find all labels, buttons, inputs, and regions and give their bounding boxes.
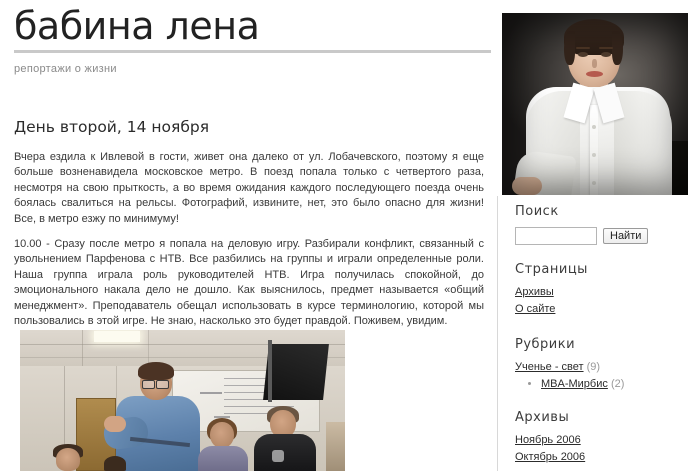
list-item: Ученье - свет (9) MBA-Мирбис (2) [515, 360, 695, 391]
widget-search: Поиск Найти [515, 204, 695, 245]
photo-teacher-glasses [142, 380, 155, 389]
widget-title-archives: Архивы [515, 410, 695, 425]
archives-list: Ноябрь 2006 Октябрь 2006 [515, 433, 695, 464]
sidebar: Поиск Найти Страницы Архивы О сайте Рубр… [502, 0, 700, 471]
archive-link-october-2006[interactable]: Октябрь 2006 [515, 451, 585, 463]
list-item: Октябрь 2006 [515, 450, 695, 464]
photo-student-head [210, 422, 234, 448]
list-item: Ноябрь 2006 [515, 433, 695, 447]
photo-student-head [56, 448, 80, 471]
post-title[interactable]: День второй, 14 ноября [14, 118, 484, 136]
list-item: О сайте [515, 302, 695, 316]
photo-ceiling-light [94, 331, 140, 342]
search-input[interactable] [515, 227, 597, 245]
blog-tagline: репортажи о жизни [14, 63, 492, 75]
photo-ceiling-grid [82, 330, 83, 368]
photo-student-torso [254, 434, 316, 471]
photo-student-shirt-logo [272, 450, 284, 462]
search-submit-button[interactable]: Найти [603, 228, 648, 244]
photo-projector-screen [263, 344, 329, 400]
search-form: Найти [515, 227, 695, 245]
post-content: День второй, 14 ноября Вчера ездила к Ив… [14, 118, 484, 339]
widget-title-search: Поиск [515, 204, 695, 219]
photo-whiteboard-writing [200, 392, 222, 394]
portrait-vignette [502, 13, 688, 195]
photo-teacher-hair [138, 362, 174, 380]
author-portrait-photo[interactable] [502, 13, 688, 195]
blog-title[interactable]: бабина лена [14, 4, 492, 48]
categories-list: Ученье - свет (9) MBA-Мирбис (2) [515, 360, 695, 391]
sidebar-divider [497, 196, 498, 471]
photo-student-edge [326, 422, 345, 471]
widget-pages: Страницы Архивы О сайте [515, 262, 695, 319]
post-body: Вчера ездила к Ивлевой в гости, живет он… [14, 150, 484, 329]
widget-categories: Рубрики Ученье - свет (9) MBA-Мирбис (2) [515, 337, 695, 394]
post-paragraph: Вчера ездила к Ивлевой в гости, живет он… [14, 150, 484, 227]
list-item: Архивы [515, 285, 695, 299]
blog-page: бабина лена репортажи о жизни День второ… [0, 0, 700, 471]
photo-projector-screen-edge [268, 340, 272, 402]
pages-list: Архивы О сайте [515, 285, 695, 316]
widget-archives: Архивы Ноябрь 2006 Октябрь 2006 [515, 410, 695, 467]
archive-link-november-2006[interactable]: Ноябрь 2006 [515, 434, 581, 446]
photo-student-head [104, 456, 126, 471]
header-divider-rule [14, 50, 491, 53]
page-link-about[interactable]: О сайте [515, 303, 555, 315]
widget-title-categories: Рубрики [515, 337, 695, 352]
post-paragraph: 10.00 - Сразу после метро я попала на де… [14, 237, 484, 329]
list-item: MBA-Мирбис (2) [541, 377, 695, 391]
site-header: бабина лена репортажи о жизни [14, 4, 492, 75]
category-count: (2) [611, 378, 624, 390]
category-link-uchenye-svet[interactable]: Ученье - свет [515, 361, 584, 373]
page-link-archives[interactable]: Архивы [515, 286, 554, 298]
photo-teacher-hands [104, 416, 126, 432]
subcategories-list: MBA-Мирбис (2) [515, 377, 695, 391]
widget-title-pages: Страницы [515, 262, 695, 277]
photo-student-torso [198, 446, 248, 471]
category-link-mba-mirbis[interactable]: MBA-Мирбис [541, 378, 608, 390]
category-count: (9) [587, 361, 600, 373]
photo-teacher-glasses [156, 380, 169, 389]
post-photo-classroom[interactable] [20, 330, 345, 471]
